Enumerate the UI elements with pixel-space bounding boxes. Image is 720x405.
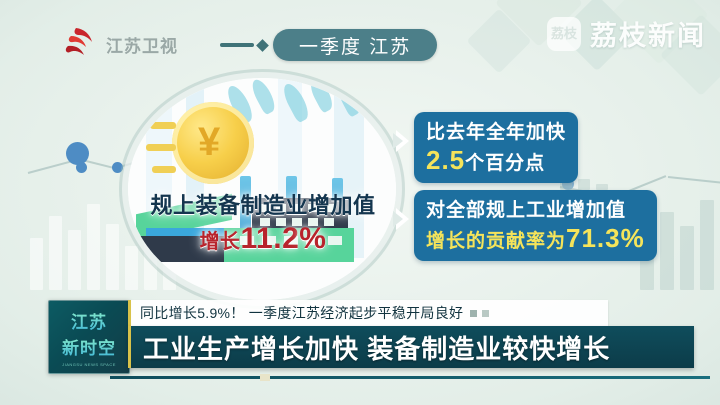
channel-logo-pinyin: JIANGSU NEWS SPACE [62,362,116,367]
broadcast-graphic: 江苏卫视 一季度 江苏 荔枝 荔枝新闻 [0,0,720,405]
headline-bar: 工业生产增长加快 装备制造业较快增长 [128,326,694,368]
bar [30,238,43,290]
subtitle-text: 同比增长5.9%！ 一季度江苏经济起步平稳开局良好 [140,303,463,323]
bar [68,230,81,290]
watermark: 荔枝 荔枝新闻 [547,14,706,53]
chevron-right-icon [396,130,409,152]
yuan-symbol: ¥ [198,122,220,162]
bar [578,179,590,190]
channel-logo: 江苏 新时空 JIANGSU NEWS SPACE [48,300,130,374]
lower-third: 江苏 新时空 JIANGSU NEWS SPACE 同比增长5.9%！ 一季度江… [0,300,720,375]
bar [660,212,674,290]
callout-2-line2: 增长的贡献率为71.3% [426,223,645,254]
diamond-icon [256,39,269,52]
callout-1: 比去年全年加快 2.5个百分点 [414,112,578,183]
broadcaster-name: 江苏卫视 [106,32,178,57]
bar [680,226,694,290]
marker-square-icon [482,310,489,317]
bar [560,182,572,190]
smoke-icon [307,78,336,114]
smoke-icon [248,78,278,115]
data-node [66,142,89,165]
bar [106,224,119,290]
broadcaster-logo: 江苏卫视 [62,24,182,64]
headline-text: 工业生产增长加快 装备制造业较快增长 [143,329,610,366]
main-stat-value-row: 增长11.2% [130,222,396,256]
channel-logo-line1: 江苏 [71,308,107,333]
baseline-nub [260,374,270,381]
data-node [76,162,87,173]
lower-third-baseline [110,376,710,379]
callout-2-value: 71.3 [566,223,621,253]
callout-2-line1: 对全部规上工业增加值 [426,195,645,222]
bar [700,200,714,290]
bar [87,204,100,290]
page-title: 一季度 江苏 [273,29,437,61]
data-node [112,162,123,173]
marker-square-icon [470,310,477,317]
line-segment [668,176,720,184]
dash-diamond-connector-icon [220,43,254,47]
watermark-text: 荔枝新闻 [590,14,706,53]
chevron-right-icon [396,208,409,230]
main-stat-number: 11.2 [241,222,300,255]
callout-1-value: 2.5 [426,145,465,175]
callout-1-line1: 比去年全年加快 [426,117,566,144]
bar [49,216,62,290]
callout-2: 对全部规上工业增加值 增长的贡献率为71.3% [414,190,657,261]
callout-2-prefix: 增长的贡献率为 [426,231,566,252]
channel-logo-line2: 新时空 [62,334,116,359]
header-title-group: 一季度 江苏 [220,28,437,62]
litchi-badge-icon: 荔枝 [547,17,581,51]
subtitle-bar: 同比增长5.9%！ 一季度江苏经济起步平稳开局良好 [128,300,608,326]
main-stat-block: 规上装备制造业增加值 增长11.2% [130,188,396,256]
main-stat-label: 规上装备制造业增加值 [130,188,396,220]
jiangsu-satellite-tv-logo-icon [62,26,100,62]
main-stat-unit: % [299,222,326,255]
callout-2-unit: % [621,223,645,253]
callout-1-line2: 2.5个百分点 [426,145,566,176]
callout-1-suffix: 个百分点 [465,153,545,174]
main-stat-prefix: 增长 [200,231,241,253]
